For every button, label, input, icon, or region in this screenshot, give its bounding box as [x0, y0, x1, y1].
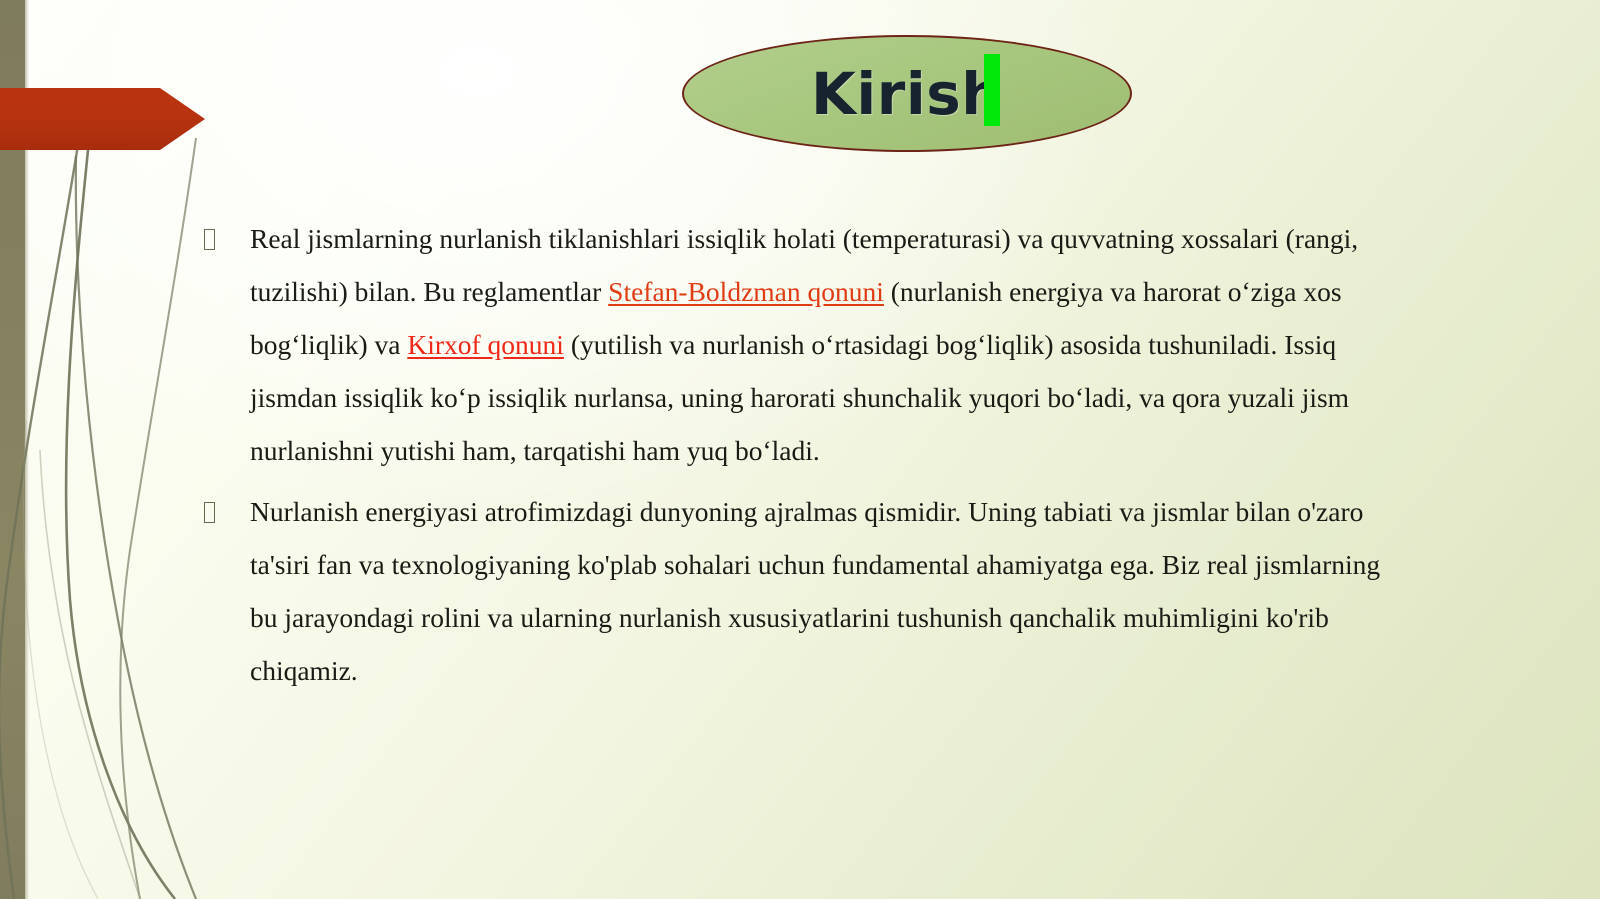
bullet-paragraph-2: Nurlanish energiyasi atrofimizdagi dunyo…: [250, 485, 1411, 697]
presentation-slide: Kirish Real jismlarning nurlanish tiklan…: [0, 0, 1600, 899]
bullet-marker-icon: [196, 485, 250, 538]
bullet-item: Nurlanish energiyasi atrofimizdagi dunyo…: [196, 485, 1411, 697]
text-cursor-caret: [984, 54, 1000, 126]
link-kirxof-qonuni[interactable]: Kirxof qonuni: [407, 329, 564, 360]
bullet-marker-icon: [196, 212, 250, 265]
page-title: Kirish: [682, 35, 1132, 152]
slide-body: Real jismlarning nurlanish tiklanishlari…: [196, 212, 1411, 701]
link-stefan-boldzman-qonuni[interactable]: Stefan-Boldzman qonuni: [608, 276, 884, 307]
bullet-paragraph-1: Real jismlarning nurlanish tiklanishlari…: [250, 212, 1411, 477]
bullet-item: Real jismlarning nurlanish tiklanishlari…: [196, 212, 1411, 477]
red-arrow-accent: [0, 88, 205, 150]
